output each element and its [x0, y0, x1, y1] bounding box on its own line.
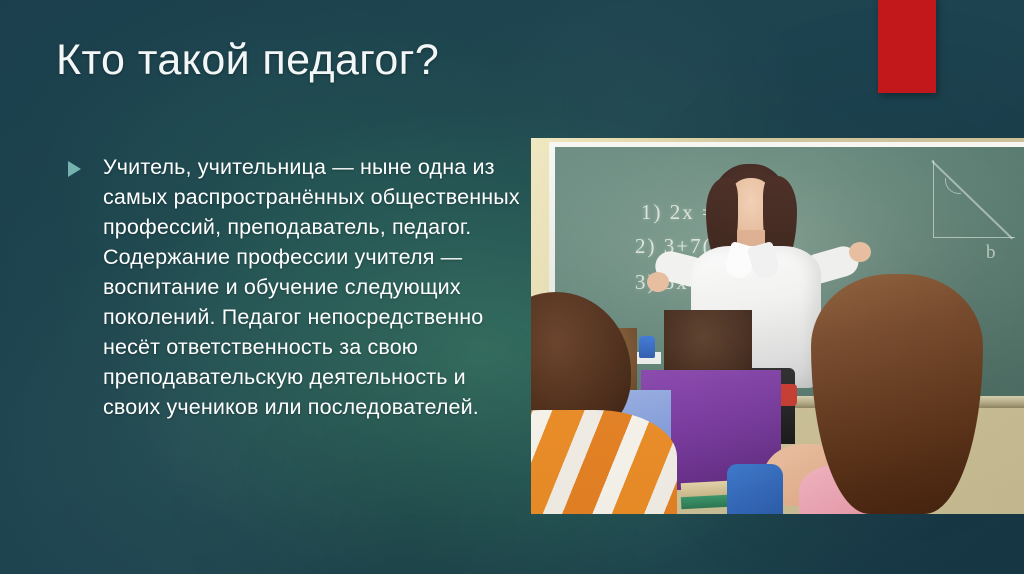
- backpack: [727, 464, 783, 514]
- student-girl-front-hair: [811, 274, 983, 514]
- red-accent-block: [878, 0, 936, 93]
- bullet-list: Учитель, учительница — ныне одна из самы…: [68, 152, 520, 422]
- student-orange-striped-shirt: [531, 410, 677, 514]
- chalkboard-triangle-sketch: [933, 160, 1015, 238]
- chalkboard-sketch-label: b: [986, 242, 996, 264]
- page-title: Кто такой педагог?: [56, 36, 816, 85]
- bullet-item-text: Учитель, учительница — ныне одна из самы…: [103, 152, 520, 422]
- presentation-slide: Кто такой педагог? Учитель, учительница …: [0, 0, 1024, 574]
- triangle-right-icon: [68, 161, 81, 177]
- teacher-hand-left: [647, 272, 669, 292]
- classroom-photo: 1) 2x = 10 2) 3+7( 4 = 3) 5x = b: [531, 138, 1024, 514]
- teacher-hand-right: [849, 242, 871, 262]
- desk-object-blue-cap: [639, 336, 655, 358]
